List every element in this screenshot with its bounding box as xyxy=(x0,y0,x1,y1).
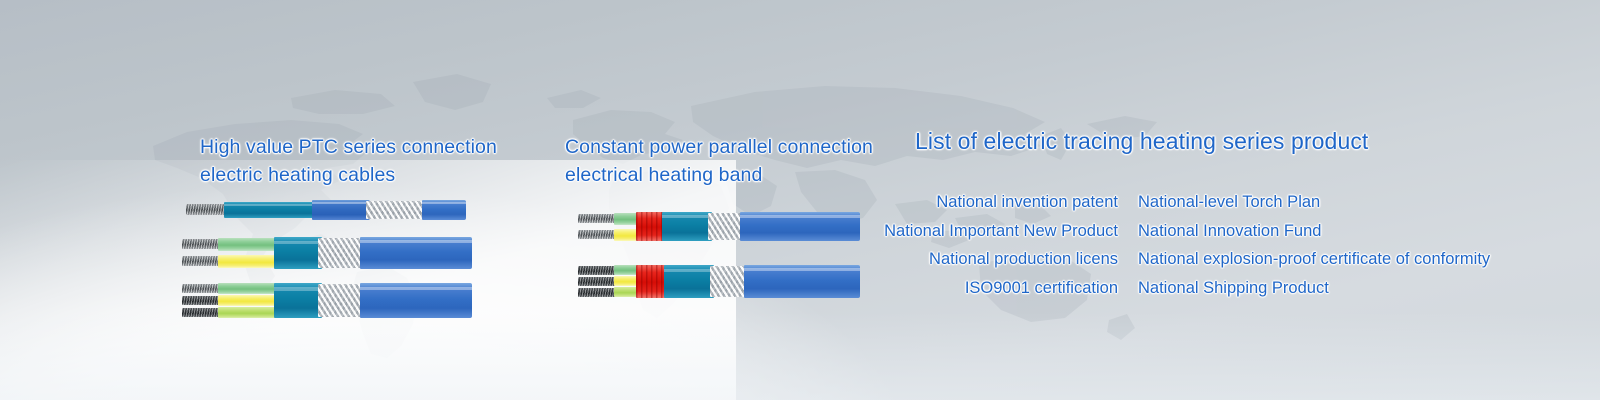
conductor-strand xyxy=(186,204,228,215)
insulation-yellow xyxy=(218,255,278,268)
highlight xyxy=(744,268,860,271)
list-item: National Shipping Product xyxy=(1128,274,1548,303)
highlight xyxy=(662,215,712,218)
highlight xyxy=(312,202,370,204)
conductor-strand xyxy=(182,284,222,293)
conductor-strand xyxy=(578,230,618,239)
heading-cp-line1: Constant power parallel connection xyxy=(565,133,873,161)
outer-jacket-blue xyxy=(744,265,860,298)
insulation-green xyxy=(218,283,278,294)
insulation-green xyxy=(218,238,278,251)
inner-jacket-blue xyxy=(312,200,370,220)
highlight xyxy=(422,202,466,204)
conductor-strand xyxy=(578,266,618,275)
heading-ptc-line2: electric heating cables xyxy=(200,161,497,189)
braid-shield xyxy=(710,266,748,297)
list-item: National Innovation Fund xyxy=(1128,217,1548,246)
certification-column-right: National-level Torch Plan National Innov… xyxy=(1128,188,1548,302)
cp-cable-3-conductor xyxy=(578,265,860,299)
insulation-yellow xyxy=(218,295,278,306)
braid-shield xyxy=(366,201,426,219)
heading-cp-line2: electrical heating band xyxy=(565,161,873,189)
outer-jacket-blue xyxy=(360,283,472,318)
highlight xyxy=(274,241,322,244)
ptc-cable-2-conductor xyxy=(182,237,472,270)
braid-shield xyxy=(318,238,364,268)
list-item: National production licens xyxy=(860,245,1128,274)
heading-ptc-line1: High value PTC series connection xyxy=(200,133,497,161)
list-item: ISO9001 certification xyxy=(860,274,1128,303)
heading-ptc: High value PTC series connection electri… xyxy=(200,133,497,189)
cp-cable-2-conductor xyxy=(578,212,860,242)
core-jacket-teal xyxy=(274,237,322,269)
list-item: National invention patent xyxy=(860,188,1128,217)
conductor-strand xyxy=(182,308,222,317)
braid-shield xyxy=(318,284,364,317)
highlight xyxy=(360,240,472,243)
core-jacket-teal xyxy=(274,283,322,318)
list-item: National Important New Product xyxy=(860,217,1128,246)
highlight xyxy=(740,215,860,218)
list-item: National-level Torch Plan xyxy=(1128,188,1548,217)
outer-jacket-blue xyxy=(740,212,860,241)
core-jacket-teal xyxy=(662,212,712,241)
list-item: National explosion-proof certificate of … xyxy=(1128,245,1548,274)
conductor-strand xyxy=(578,288,618,297)
conductor-strand xyxy=(578,277,618,286)
conductor-strand xyxy=(182,239,222,249)
conductor-strand xyxy=(182,296,222,305)
outer-jacket-blue xyxy=(360,237,472,269)
highlight xyxy=(274,287,322,291)
highlight xyxy=(664,269,714,272)
ptc-cable-1-conductor xyxy=(186,200,466,220)
conductor-strand xyxy=(182,256,222,266)
braid-shield xyxy=(708,213,744,240)
background-bottom-fade xyxy=(0,312,1600,400)
heading-constant-power: Constant power parallel connection elect… xyxy=(565,133,873,189)
certification-column-left: National invention patent National Impor… xyxy=(860,188,1128,302)
outer-jacket-blue xyxy=(422,200,466,220)
product-banner: High value PTC series connection electri… xyxy=(0,0,1600,400)
ptc-cable-3-conductor xyxy=(182,283,472,319)
insulation-light-green xyxy=(218,307,278,318)
certification-list: National invention patent National Impor… xyxy=(860,188,1548,302)
core-jacket-teal xyxy=(664,265,714,298)
conductor-strand xyxy=(578,214,618,223)
highlight xyxy=(360,287,472,290)
page-title: List of electric tracing heating series … xyxy=(915,128,1368,155)
